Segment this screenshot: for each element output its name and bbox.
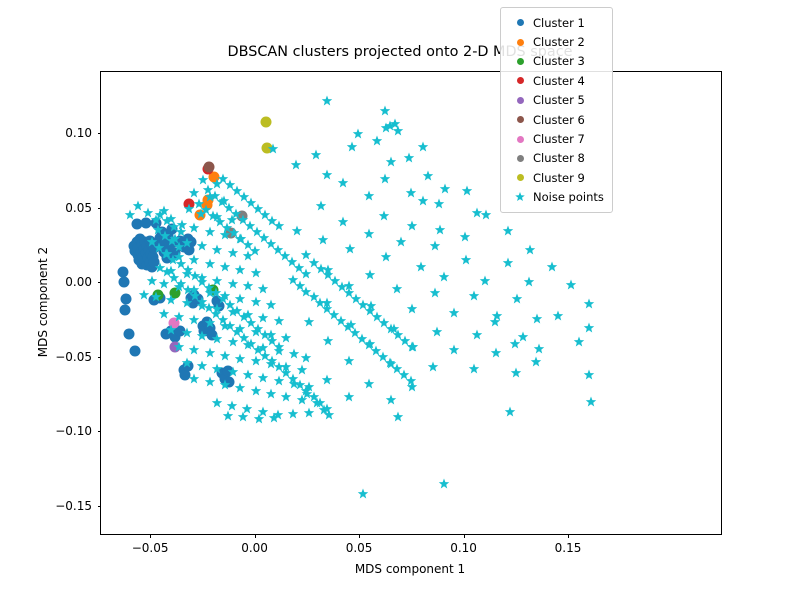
noise-point-marker bbox=[385, 394, 396, 405]
noise-point-marker bbox=[235, 293, 246, 304]
y-tick bbox=[98, 506, 102, 507]
noise-point-marker bbox=[288, 409, 299, 420]
x-tick-label: −0.05 bbox=[132, 541, 169, 555]
noise-point-marker bbox=[322, 375, 333, 386]
noise-point-marker bbox=[189, 223, 200, 234]
noise-point-marker bbox=[417, 195, 428, 206]
y-tick bbox=[98, 208, 102, 209]
noise-point-marker bbox=[344, 355, 355, 366]
noise-point-marker bbox=[318, 234, 329, 245]
x-tick bbox=[359, 534, 360, 538]
noise-point-marker bbox=[173, 341, 184, 352]
legend-item-label: Noise points bbox=[533, 190, 604, 204]
y-tick bbox=[98, 357, 102, 358]
legend-dot-icon bbox=[507, 58, 533, 65]
noise-point-marker bbox=[448, 307, 459, 318]
y-axis-label: MDS component 2 bbox=[36, 71, 50, 533]
noise-point-marker bbox=[238, 412, 249, 423]
noise-point-marker bbox=[523, 277, 534, 288]
legend-item[interactable]: Cluster 1 bbox=[507, 13, 606, 32]
noise-point-marker bbox=[423, 171, 434, 182]
noise-point-marker bbox=[434, 224, 445, 235]
noise-point-marker bbox=[235, 383, 246, 394]
noise-point-marker bbox=[323, 335, 334, 346]
noise-point-marker bbox=[158, 279, 169, 290]
noise-point-marker bbox=[273, 316, 284, 327]
cluster-point-marker bbox=[261, 117, 272, 128]
noise-point-marker bbox=[219, 380, 230, 391]
noise-point-marker bbox=[406, 341, 417, 352]
legend-item-label: Cluster 3 bbox=[533, 54, 585, 68]
noise-point-marker bbox=[461, 186, 472, 197]
noise-point-marker bbox=[461, 254, 472, 265]
figure-canvas: DBSCAN clusters projected onto 2-D MDS s… bbox=[0, 0, 800, 600]
noise-point-marker bbox=[380, 106, 391, 117]
noise-point-marker bbox=[534, 343, 545, 354]
noise-point-marker bbox=[258, 313, 269, 324]
noise-point-marker bbox=[291, 225, 302, 236]
legend-dot-icon bbox=[507, 77, 533, 84]
noise-point-marker bbox=[242, 281, 253, 292]
noise-point-marker bbox=[212, 363, 223, 374]
legend-item-label: Cluster 9 bbox=[533, 171, 585, 185]
noise-point-marker bbox=[189, 374, 200, 385]
legend-dot bbox=[517, 136, 524, 143]
legend-dot-icon bbox=[507, 155, 533, 162]
noise-point-marker bbox=[407, 304, 418, 315]
legend-item-label: Cluster 6 bbox=[533, 113, 585, 127]
noise-point-marker bbox=[380, 174, 391, 185]
noise-point-marker bbox=[429, 288, 440, 299]
legend-item-label: Cluster 5 bbox=[533, 93, 585, 107]
noise-point-marker bbox=[405, 188, 416, 199]
noise-point-marker bbox=[250, 268, 261, 279]
noise-point-marker bbox=[258, 372, 269, 383]
legend-item[interactable]: Cluster 5 bbox=[507, 91, 606, 110]
legend-dot bbox=[517, 155, 524, 162]
y-tick bbox=[98, 431, 102, 432]
noise-point-marker bbox=[150, 292, 161, 303]
cluster-point-marker bbox=[130, 346, 141, 357]
noise-point-marker bbox=[380, 122, 391, 133]
noise-point-marker bbox=[146, 276, 157, 287]
noise-point-marker bbox=[480, 275, 491, 286]
noise-point-marker bbox=[417, 141, 428, 152]
legend-dot bbox=[517, 58, 524, 65]
noise-point-marker bbox=[211, 398, 222, 409]
legend-box: Cluster 1Cluster 2Cluster 3Cluster 4Clus… bbox=[500, 7, 613, 213]
noise-point-marker bbox=[281, 392, 292, 403]
noise-point-marker bbox=[438, 271, 449, 282]
x-tick bbox=[150, 534, 151, 538]
noise-point-marker bbox=[204, 258, 215, 269]
noise-point-marker bbox=[212, 334, 223, 345]
noise-point-marker bbox=[189, 344, 200, 355]
legend-dot-icon bbox=[507, 116, 533, 123]
noise-point-marker bbox=[321, 96, 332, 107]
noise-point-marker bbox=[196, 241, 207, 252]
noise-point-marker bbox=[227, 247, 238, 258]
noise-point-marker bbox=[139, 289, 150, 300]
noise-point-marker bbox=[288, 349, 299, 360]
noise-point-marker bbox=[250, 386, 261, 397]
noise-point-marker bbox=[490, 347, 501, 358]
cluster-point-marker bbox=[204, 162, 215, 173]
noise-point-marker bbox=[303, 317, 314, 328]
noise-point-marker bbox=[273, 342, 284, 353]
noise-point-marker bbox=[265, 299, 276, 310]
legend-item[interactable]: Cluster 9 bbox=[507, 168, 606, 187]
noise-point-marker bbox=[531, 357, 542, 368]
noise-point-marker bbox=[166, 213, 177, 224]
noise-point-marker bbox=[490, 317, 501, 328]
noise-point-marker bbox=[347, 141, 358, 152]
noise-point-marker bbox=[357, 488, 368, 499]
noise-point-marker bbox=[584, 370, 595, 381]
noise-point-marker bbox=[196, 360, 207, 371]
noise-point-marker bbox=[406, 221, 417, 232]
noise-point-marker bbox=[204, 227, 215, 238]
noise-point-marker bbox=[254, 413, 265, 424]
legend-item[interactable]: Cluster 3 bbox=[507, 52, 606, 71]
noise-point-marker bbox=[532, 314, 543, 325]
noise-point-marker bbox=[301, 352, 312, 363]
noise-point-marker bbox=[392, 284, 403, 295]
legend-item[interactable]: Cluster 2 bbox=[507, 32, 606, 51]
noise-point-marker bbox=[227, 337, 238, 348]
noise-point-marker bbox=[316, 201, 327, 212]
noise-point-marker bbox=[189, 314, 200, 325]
noise-point-marker bbox=[502, 258, 513, 269]
noise-point-marker bbox=[222, 410, 233, 421]
noise-point-marker bbox=[166, 325, 177, 336]
plot-axes: −0.050.000.050.100.15−0.15−0.10−0.050.00… bbox=[100, 71, 722, 535]
noise-point-marker bbox=[440, 184, 451, 195]
noise-point-marker bbox=[378, 210, 389, 221]
noise-point-marker bbox=[290, 160, 301, 171]
cluster-point-marker bbox=[124, 328, 135, 339]
legend-dot bbox=[517, 116, 524, 123]
noise-point-marker bbox=[502, 225, 513, 236]
noise-point-marker bbox=[235, 353, 246, 364]
noise-point-marker bbox=[372, 135, 383, 146]
x-tick-label: 0.10 bbox=[450, 541, 477, 555]
noise-point-marker bbox=[364, 269, 375, 280]
noise-point-marker bbox=[173, 241, 184, 252]
noise-point-marker bbox=[181, 357, 192, 368]
x-tick bbox=[464, 534, 465, 538]
noise-point-marker bbox=[469, 363, 480, 374]
legend-item-label: Cluster 1 bbox=[533, 16, 585, 30]
noise-point-marker bbox=[405, 375, 416, 386]
noise-point-marker bbox=[385, 157, 396, 168]
noise-point-marker bbox=[227, 278, 238, 289]
noise-point-marker bbox=[269, 413, 280, 424]
noise-point-marker bbox=[250, 296, 261, 307]
legend-dot bbox=[517, 77, 524, 84]
noise-point-marker bbox=[469, 291, 480, 302]
noise-point-marker bbox=[188, 187, 199, 198]
x-axis-label: MDS component 1 bbox=[100, 562, 720, 576]
page-title: DBSCAN clusters projected onto 2-D MDS s… bbox=[0, 44, 800, 60]
noise-point-marker bbox=[311, 150, 322, 161]
noise-point-marker bbox=[511, 294, 522, 305]
legend-dot-icon bbox=[507, 97, 533, 104]
legend-item[interactable]: Cluster 6 bbox=[507, 110, 606, 129]
noise-point-marker bbox=[439, 478, 450, 489]
y-tick-label: 0.05 bbox=[65, 201, 92, 215]
legend-item-label: Cluster 2 bbox=[533, 35, 585, 49]
legend-item-label: Cluster 7 bbox=[533, 132, 585, 146]
noise-point-marker bbox=[393, 412, 404, 423]
y-tick-label: −0.05 bbox=[55, 350, 92, 364]
y-tick-label: 0.00 bbox=[65, 275, 92, 289]
noise-point-marker bbox=[504, 406, 515, 417]
noise-point-marker bbox=[212, 244, 223, 255]
noise-point-marker bbox=[584, 322, 595, 333]
scatter-data-layer bbox=[101, 72, 721, 534]
noise-point-marker bbox=[338, 177, 349, 188]
legend-item[interactable]: Noise points bbox=[507, 188, 606, 207]
noise-point-marker bbox=[547, 262, 558, 273]
noise-point-marker bbox=[250, 246, 261, 257]
noise-point-marker bbox=[433, 198, 444, 209]
noise-point-marker bbox=[344, 391, 355, 402]
noise-point-marker bbox=[322, 169, 333, 180]
y-tick-label: −0.15 bbox=[55, 499, 92, 513]
cluster-point-marker bbox=[118, 276, 129, 287]
noise-point-marker bbox=[338, 217, 349, 228]
noise-point-marker bbox=[258, 284, 269, 295]
legend-dot-icon bbox=[507, 19, 533, 26]
cluster-point-marker bbox=[140, 218, 151, 229]
noise-point-marker bbox=[459, 231, 470, 242]
noise-point-marker bbox=[166, 295, 177, 306]
noise-point-marker bbox=[471, 329, 482, 340]
noise-point-marker bbox=[197, 174, 208, 185]
y-tick-label: 0.10 bbox=[65, 126, 92, 140]
noise-point-marker bbox=[583, 299, 594, 310]
legend-item[interactable]: Cluster 8 bbox=[507, 149, 606, 168]
noise-point-marker bbox=[396, 237, 407, 248]
legend-dot bbox=[517, 174, 524, 181]
noise-point-marker bbox=[322, 404, 333, 415]
noise-point-marker bbox=[586, 397, 597, 408]
noise-point-marker bbox=[525, 244, 536, 255]
legend-item-label: Cluster 4 bbox=[533, 74, 585, 88]
noise-point-marker bbox=[265, 389, 276, 400]
noise-point-marker bbox=[428, 361, 439, 372]
noise-point-marker bbox=[300, 268, 311, 279]
x-tick bbox=[568, 534, 569, 538]
y-tick bbox=[98, 282, 102, 283]
noise-point-marker bbox=[415, 261, 426, 272]
x-tick-label: 0.05 bbox=[346, 541, 373, 555]
x-tick-label: 0.00 bbox=[241, 541, 268, 555]
noise-point-marker bbox=[219, 261, 230, 272]
legend-dot-icon bbox=[507, 174, 533, 181]
cluster-point-marker bbox=[120, 304, 131, 315]
noise-point-marker bbox=[364, 229, 375, 240]
noise-point-marker bbox=[393, 126, 404, 137]
noise-point-marker bbox=[235, 265, 246, 276]
x-tick bbox=[255, 534, 256, 538]
legend-item[interactable]: Cluster 4 bbox=[507, 71, 606, 90]
noise-point-marker bbox=[364, 378, 375, 389]
noise-point-marker bbox=[267, 143, 278, 154]
noise-point-marker bbox=[510, 338, 521, 349]
noise-point-marker bbox=[181, 328, 192, 339]
legend-item-label: Cluster 8 bbox=[533, 151, 585, 165]
noise-point-marker bbox=[429, 241, 440, 252]
legend-star-icon bbox=[507, 192, 533, 202]
noise-point-marker bbox=[303, 407, 314, 418]
noise-point-marker bbox=[553, 310, 564, 321]
noise-point-marker bbox=[566, 279, 577, 290]
noise-point-marker bbox=[511, 368, 522, 379]
noise-point-marker bbox=[344, 243, 355, 254]
noise-point-marker bbox=[219, 350, 230, 361]
noise-point-marker bbox=[173, 311, 184, 322]
noise-point-marker bbox=[204, 377, 215, 388]
noise-point-marker bbox=[273, 221, 284, 232]
noise-point-marker bbox=[353, 128, 364, 139]
noise-point-marker bbox=[431, 326, 442, 337]
legend-dot bbox=[517, 97, 524, 104]
noise-point-marker bbox=[404, 153, 415, 164]
noise-point-marker bbox=[204, 347, 215, 358]
noise-point-marker bbox=[380, 252, 391, 263]
legend-dot-icon bbox=[507, 39, 533, 46]
y-tick bbox=[98, 133, 102, 134]
noise-point-marker bbox=[573, 337, 584, 348]
cluster-point-marker bbox=[121, 293, 132, 304]
legend-dot-icon bbox=[507, 136, 533, 143]
noise-point-marker bbox=[364, 191, 375, 202]
legend-item[interactable]: Cluster 7 bbox=[507, 129, 606, 148]
y-tick-label: −0.10 bbox=[55, 424, 92, 438]
x-tick-label: 0.15 bbox=[555, 541, 582, 555]
legend-dot bbox=[517, 19, 524, 26]
noise-point-marker bbox=[481, 210, 492, 221]
noise-point-marker bbox=[242, 369, 253, 380]
noise-point-marker bbox=[158, 308, 169, 319]
legend-dot bbox=[517, 39, 524, 46]
noise-point-marker bbox=[196, 331, 207, 342]
noise-point-marker bbox=[449, 344, 460, 355]
noise-point-marker bbox=[227, 366, 238, 377]
